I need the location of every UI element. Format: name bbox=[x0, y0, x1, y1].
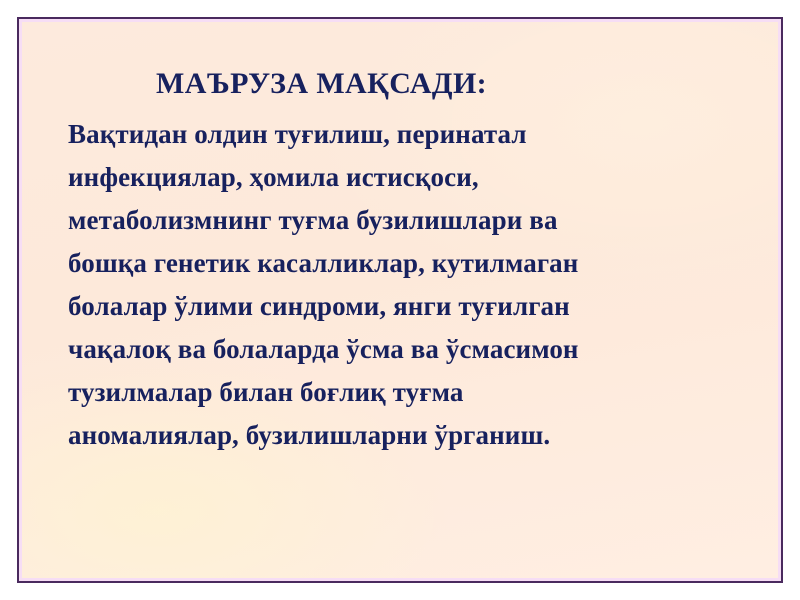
body-line: болалар ўлими синдроми, янги туғилган bbox=[68, 285, 738, 328]
slide-body-text: Вақтидан олдин туғилиш, перинатал инфекц… bbox=[60, 113, 738, 457]
body-line: чақалоқ ва болаларда ўсма ва ўсмасимон bbox=[68, 328, 738, 371]
body-line: тузилмалар билан боғлиқ туғма bbox=[68, 371, 738, 414]
body-line: инфекциялар, ҳомила истисқоси, bbox=[68, 156, 738, 199]
slide-title: МАЪРУЗА МАҚСАДИ: bbox=[60, 66, 738, 101]
presentation-slide: МАЪРУЗА МАҚСАДИ: Вақтидан олдин туғилиш,… bbox=[0, 0, 800, 600]
body-line: аномалиялар, бузилишларни ўрганиш. bbox=[68, 414, 738, 457]
slide-border-outer: МАЪРУЗА МАҚСАДИ: Вақтидан олдин туғилиш,… bbox=[17, 17, 783, 583]
body-line: метаболизмнинг туғма бузилишлари ва bbox=[68, 199, 738, 242]
slide-border-inner: МАЪРУЗА МАҚСАДИ: Вақтидан олдин туғилиш,… bbox=[19, 19, 781, 581]
slide-content: МАЪРУЗА МАҚСАДИ: Вақтидан олдин туғилиш,… bbox=[22, 22, 778, 578]
body-line: Вақтидан олдин туғилиш, перинатал bbox=[68, 113, 738, 156]
body-line: бошқа генетик касалликлар, кутилмаган bbox=[68, 242, 738, 285]
slide-background: МАЪРУЗА МАҚСАДИ: Вақтидан олдин туғилиш,… bbox=[22, 22, 778, 578]
